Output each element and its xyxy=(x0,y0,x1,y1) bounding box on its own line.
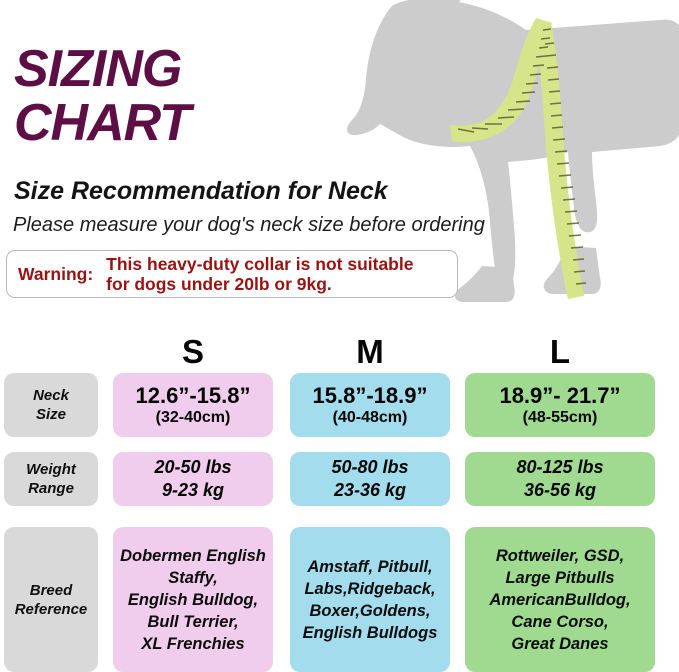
warning-box: Warning: This heavy-duty collar is not s… xyxy=(6,250,458,298)
neck-size-metric-l: (48-55cm) xyxy=(523,408,598,427)
size-header-l: L xyxy=(465,333,655,371)
weight-range-cell-m: 50-80 lbs 23-36 kg xyxy=(290,452,450,506)
breed-line: Large Pitbulls xyxy=(505,567,614,589)
sizing-chart-page: SIZING CHART Size Recommendation for Nec… xyxy=(0,0,679,672)
row-label-weight-range: Weight Range xyxy=(4,452,98,506)
row-label-breed-reference-line-1: Breed xyxy=(30,581,73,600)
title-line-1: SIZING xyxy=(14,42,484,96)
title-line-2: CHART xyxy=(14,96,484,150)
neck-size-cell-s: 12.6”-15.8” (32-40cm) xyxy=(113,373,273,437)
row-label-neck-size-line-1: Neck xyxy=(33,386,69,405)
weight-range-cell-l: 80-125 lbs 36-56 kg xyxy=(465,452,655,506)
instruction-text: Please measure your dog's neck size befo… xyxy=(13,214,485,237)
warning-message-line-2: for dogs under 20lb or 9kg. xyxy=(106,274,413,294)
weight-range-cell-s: 20-50 lbs 9-23 kg xyxy=(113,452,273,506)
size-header-s: S xyxy=(113,333,273,371)
row-label-neck-size: Neck Size xyxy=(4,373,98,437)
row-label-weight-range-line-1: Weight xyxy=(26,460,76,479)
weight-range-lbs-l: 80-125 lbs xyxy=(516,456,603,479)
breed-reference-cell-l: Rottweiler, GSD, Large Pitbulls American… xyxy=(465,527,655,672)
breed-line: Great Danes xyxy=(511,633,608,655)
row-label-breed-reference: Breed Reference xyxy=(4,527,98,672)
row-label-neck-size-line-2: Size xyxy=(36,405,66,424)
breed-line: Staffy, xyxy=(168,567,218,589)
breed-reference-cell-m: Amstaff, Pitbull, Labs,Ridgeback, Boxer,… xyxy=(290,527,450,672)
breed-line: English Bulldog, xyxy=(128,589,258,611)
breed-line: Dobermen English xyxy=(120,545,266,567)
breed-line: AmericanBulldog, xyxy=(489,589,630,611)
neck-size-range-m: 15.8”-18.9” xyxy=(313,383,428,408)
breed-line: Labs,Ridgeback, xyxy=(304,578,435,600)
weight-range-kg-m: 23-36 kg xyxy=(334,479,406,502)
breed-line: Bull Terrier, xyxy=(147,611,238,633)
breed-line: English Bulldogs xyxy=(303,622,438,644)
neck-size-metric-m: (40-48cm) xyxy=(333,408,408,427)
breed-line: Rottweiler, GSD, xyxy=(496,545,624,567)
breed-line: Amstaff, Pitbull, xyxy=(307,556,432,578)
weight-range-lbs-m: 50-80 lbs xyxy=(331,456,408,479)
breed-line: XL Frenchies xyxy=(141,633,244,655)
warning-label: Warning: xyxy=(7,264,93,285)
subtitle: Size Recommendation for Neck xyxy=(14,177,388,206)
row-label-weight-range-line-2: Range xyxy=(28,479,74,498)
warning-message: This heavy-duty collar is not suitable f… xyxy=(93,254,413,294)
row-label-breed-reference-line-2: Reference xyxy=(15,600,88,619)
size-header-m: M xyxy=(290,333,450,371)
neck-size-metric-s: (32-40cm) xyxy=(156,408,231,427)
breed-line: Boxer,Goldens, xyxy=(309,600,430,622)
neck-size-cell-l: 18.9”- 21.7” (48-55cm) xyxy=(465,373,655,437)
weight-range-lbs-s: 20-50 lbs xyxy=(154,456,231,479)
weight-range-kg-s: 9-23 kg xyxy=(162,479,224,502)
warning-message-line-1: This heavy-duty collar is not suitable xyxy=(106,254,413,274)
breed-line: Cane Corso, xyxy=(511,611,608,633)
breed-reference-cell-s: Dobermen English Staffy, English Bulldog… xyxy=(113,527,273,672)
weight-range-kg-l: 36-56 kg xyxy=(524,479,596,502)
neck-size-range-s: 12.6”-15.8” xyxy=(136,383,251,408)
page-title: SIZING CHART xyxy=(14,42,484,150)
neck-size-range-l: 18.9”- 21.7” xyxy=(499,383,620,408)
neck-size-cell-m: 15.8”-18.9” (40-48cm) xyxy=(290,373,450,437)
